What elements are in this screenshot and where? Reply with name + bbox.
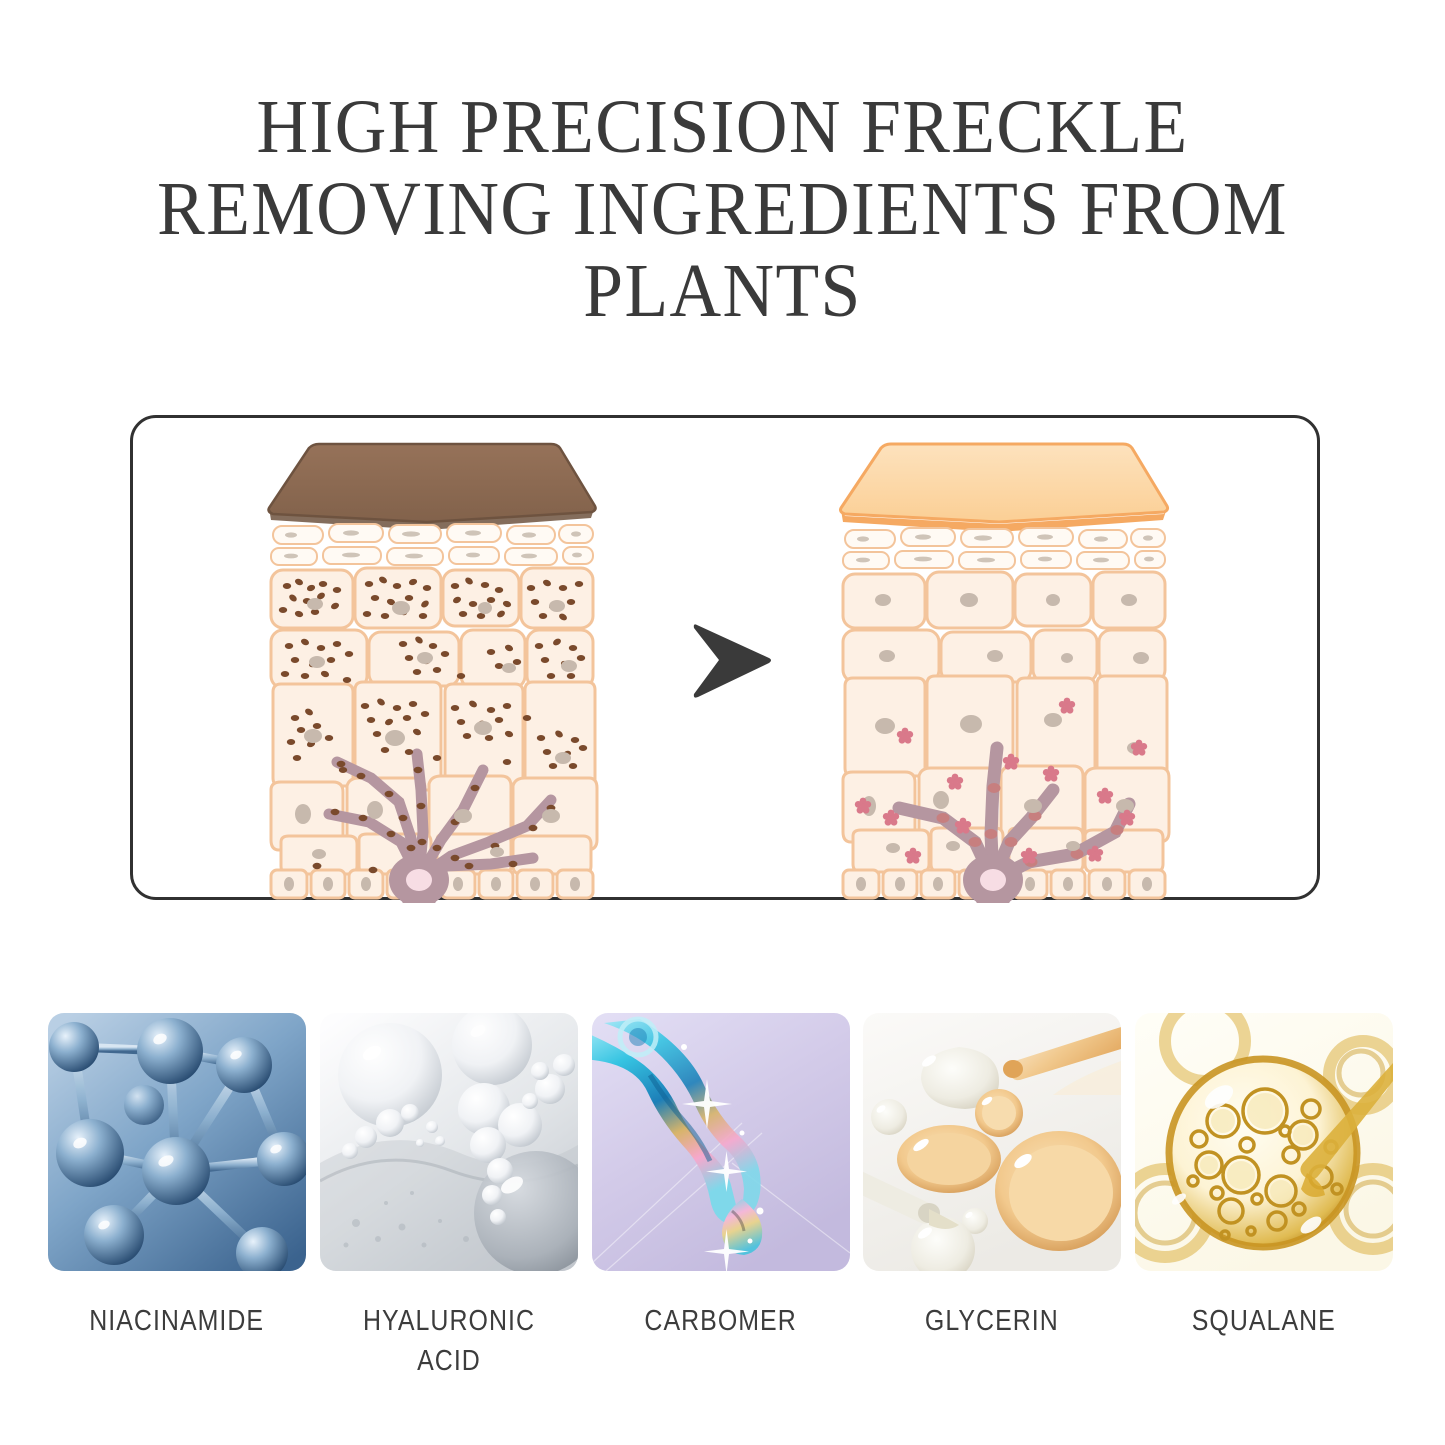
after-skin-illustration [823,418,1183,897]
ingredient-label: NIACINAMIDE [90,1301,265,1341]
molecule-structure-photo[interactable] [48,1013,306,1271]
ingredient-item-hyaluronic-acid[interactable]: HYALURONIC ACID [320,1013,578,1381]
ingredient-item-niacinamide[interactable]: NIACINAMIDE [48,1013,306,1381]
ingredient-strip: NIACINAMIDE [48,1013,1393,1381]
ingredient-label: HYALURONIC ACID [363,1301,535,1381]
ingredient-label-line: CARBOMER [644,1301,796,1341]
ingredient-label: SQUALANE [1192,1301,1336,1341]
page-title: HIGH PRECISION FRECKLE REMOVING INGREDIE… [0,86,1445,332]
title-line-3: PLANTS [43,250,1401,332]
ingredient-item-glycerin[interactable]: GLYCERIN [863,1013,1121,1381]
ingredient-label-line: HYALURONIC [363,1301,535,1341]
iridescent-gel-drop-photo[interactable] [592,1013,850,1271]
water-bubbles-photo[interactable] [320,1013,578,1271]
ingredient-item-carbomer[interactable]: CARBOMER [592,1013,850,1381]
title-line-1: HIGH PRECISION FRECKLE [43,86,1401,168]
before-after-panel [130,415,1320,900]
ingredient-label-line: SQUALANE [1192,1301,1336,1341]
ingredient-label: GLYCERIN [925,1301,1059,1341]
ingredient-label-line: ACID [363,1341,535,1381]
ingredient-item-squalane[interactable]: SQUALANE [1135,1013,1393,1381]
ingredient-label: CARBOMER [644,1301,796,1341]
title-line-2: REMOVING INGREDIENTS FROM [43,168,1401,250]
ingredient-label-line: GLYCERIN [925,1301,1059,1341]
before-skin-illustration [251,418,611,897]
amber-serum-droplets-photo[interactable] [863,1013,1121,1271]
ingredient-label-line: NIACINAMIDE [90,1301,265,1341]
golden-oil-bubbles-photo[interactable] [1135,1013,1393,1271]
right-arrow-icon [685,615,777,707]
